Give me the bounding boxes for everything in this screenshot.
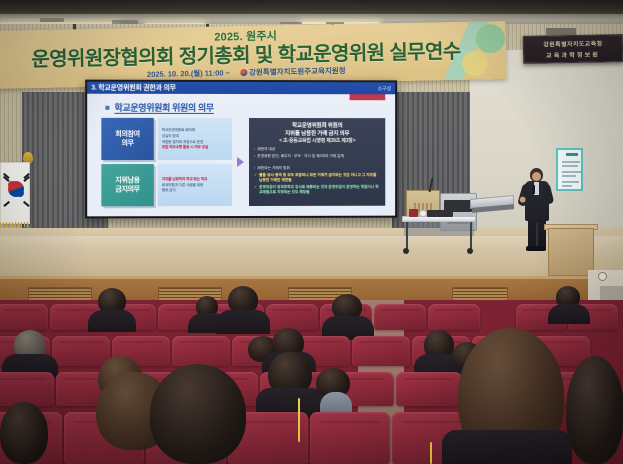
dark-item-text: 물품·공사·용역 등 모두 포함되나 모든 거래가 금지되는 것은 아니고 그 … [259,173,380,183]
dark-list-item: • 제한의 대상 [254,147,380,152]
education-office-logo-icon [240,69,247,76]
duty-tag-column: 회의참여 의무 지위남용 금지의무 [101,118,153,206]
banner-datetime: 2025. 10. 20.(월) 11:00 ~ [147,68,230,79]
tag-line2: 금지의무 [115,185,139,195]
info-line-highlight: 지위를 남용하여 학교 또는 학교 [162,177,229,182]
laptop-on-table [427,210,453,217]
auditorium-photo: 강원특별자치도교육청 교육과학정보원 2025. 원주시 운영위원장협의회 정기… [0,0,623,464]
venue-led-sign: 강원특별자치도교육청 교육과학정보원 [523,34,623,64]
info-line: 행위 금지 [162,188,229,193]
red-object-on-table [409,209,418,217]
banner-organizer-wrap: 강원특별자치도원주교육지원청 [240,66,346,77]
duty-tag-abuse-prohibition: 지위남용 금지의무 [101,164,153,206]
slide-accent-bar [350,94,386,100]
attendee-shoulders [548,304,590,324]
table-leg [406,222,408,250]
table-caster [467,248,473,254]
info-highlight-text: 지위를 남용하여 학교 또는 학교 [162,177,207,181]
seat[interactable] [352,336,410,366]
dark-detail-panel: 학교운영위원회 위원의 지위를 남용한 거래 금지 의무 < 초·중등교육법 시… [249,118,385,206]
event-banner: 2025. 원주시 운영위원장협의회 정기총회 및 학교운영위원 실무연수 20… [0,21,507,89]
attendee-shoulders [88,310,136,332]
dark-list-item: ✓ 물품·공사·용역 등 모두 포함되나 모든 거래가 금지되는 것은 아니고 … [254,173,380,183]
info-line: 회계직원과 다른 사람을 위한 [162,183,229,188]
check-icon: ✓ [254,173,257,183]
seat[interactable] [266,304,318,330]
poster-text-line [562,185,572,187]
arrow-connector [236,118,245,206]
poster-text-line [562,161,580,163]
poster-title-block [566,153,578,156]
dark-item-text: 제한되는 거래의 범위 [257,166,290,171]
slide-section-title: 3. 학교운영위원회 권한과 의무 [91,83,175,93]
table-leg [470,222,472,250]
ceiling-vent [40,18,64,22]
dark-item-text: 제한의 대상 [257,147,275,152]
spacer [254,161,380,164]
presenter-leg-split [536,223,538,247]
dark-list-item: • 제한되는 거래의 범위 [254,166,380,171]
info-line: 학교운영위원회 회의에 [162,128,229,133]
attendee-shoulders [442,430,572,464]
seat[interactable] [52,336,110,366]
led-sign-line1: 강원특별자치도교육청 [543,38,602,48]
table-apron [404,222,474,236]
slide-heading-row: 학교운영위원회 위원의 의무 [105,101,213,114]
slide-page-label: 소구성 [378,85,392,92]
info-line-highlight: 위원 직무수행 활동 시 의무 성실 [162,145,229,150]
presenter-hand [519,196,526,203]
attendee-shoulders [320,392,352,414]
projection-screen: 3. 학교운영위원회 권한과 의무 소구성 학교운영위원회 위원의 의무 회의참… [85,80,397,219]
seat[interactable] [0,304,48,330]
bullet-icon: • [254,166,255,171]
poster-text-line [562,171,581,173]
wall-notice-poster [556,148,583,191]
slide-bullet-heading: 학교운영위원회 위원의 의무 [114,101,213,114]
info-line: 적법한 절차와 과정으로 운영 [162,139,229,144]
attendee-head [0,402,48,464]
info-line: 성실히 참여 [162,134,229,139]
attendee-head [150,364,246,464]
dark-title-line1: 학교운영위원회 위원의 [254,122,380,130]
korean-flag-icon [0,162,30,224]
info-highlight-text: 위원 직무수행 활동 시 의무 성실 [162,145,208,149]
info-box-meeting: 학교운영위원회 회의에 성실히 참여 적법한 절차와 과정으로 운영 위원 직무… [158,118,232,160]
straw [298,398,300,442]
attendee-shoulders [216,310,270,334]
slide-content: 회의참여 의무 지위남용 금지의무 학교운영위원회 회의에 성실히 참여 적법한… [101,118,385,206]
presenter-shoes [526,246,546,251]
white-disc-on-table [419,210,427,217]
bullet-icon: • [254,147,255,152]
presentation-slide: 3. 학교운영위원회 권한과 의무 소구성 학교운영위원회 위원의 의무 회의참… [87,82,395,217]
podium [548,228,594,276]
seat[interactable] [374,304,426,330]
wall-clock-icon [598,272,607,281]
poster-text-line [562,175,576,177]
arrow-right-icon [237,157,244,167]
seat[interactable] [0,372,54,406]
info-box-abuse: 지위를 남용하여 학교 또는 학교 회계직원과 다른 사람을 위한 행위 금지 [158,164,232,206]
seat[interactable] [310,412,390,464]
poster-text-line [562,165,578,167]
check-icon: ✓ [254,185,257,195]
seat[interactable] [428,304,480,330]
handheld-microphone-icon [532,185,535,194]
dark-list-item: ✓ 운영위원이 방과후학교 강사로 채용되는 것과 운영위원이 운영하는 학원이… [254,185,380,195]
trigram [23,201,29,207]
sign-mount [546,28,576,35]
slide-title-bar: 3. 학교운영위원회 권한과 의무 소구성 [87,82,395,95]
tag-line1: 회의참여 [115,129,139,138]
dark-item-text: 운영위원이 방과후학교 강사로 채용되는 것과 운영위원이 운영하는 학원이나 … [259,185,380,195]
dark-list-item: • 운영위원 본인, 배우자 · 부모 · 자식 및 제3자의 거래 일체 [254,154,380,159]
poster-text-line [562,181,579,183]
bullet-icon: • [254,154,255,159]
seat[interactable] [396,372,462,406]
square-bullet-icon [105,105,109,109]
tag-line1: 지위남용 [115,176,139,186]
duty-tag-meeting-participation: 회의참여 의무 [101,118,153,160]
dark-panel-title: 학교운영위원회 위원의 지위를 남용한 거래 금지 의무 < 초·중등교육법 시… [254,122,380,145]
tag-line2: 의무 [121,139,133,148]
seat[interactable] [172,336,230,366]
straw [430,442,432,464]
taeguk-blue [16,189,24,197]
taeguk-red [8,181,16,189]
table-caster [403,248,409,254]
attendee-head [566,356,623,464]
trigram [3,201,9,207]
flag-fringe [0,222,30,227]
presenter-face [532,172,541,181]
dark-law-reference: < 초·중등교육법 시행령 제39조 제3항> [254,138,380,145]
led-sign-line2: 교육과학정보원 [546,50,600,60]
detail-column: 학교운영위원회 회의에 성실히 참여 적법한 절차와 과정으로 운영 위원 직무… [158,118,232,206]
dark-item-text: 운영위원 본인, 배우자 · 부모 · 자식 및 제3자의 거래 일체 [257,154,344,159]
banner-organizer: 강원특별자치도원주교육지원청 [249,66,346,77]
